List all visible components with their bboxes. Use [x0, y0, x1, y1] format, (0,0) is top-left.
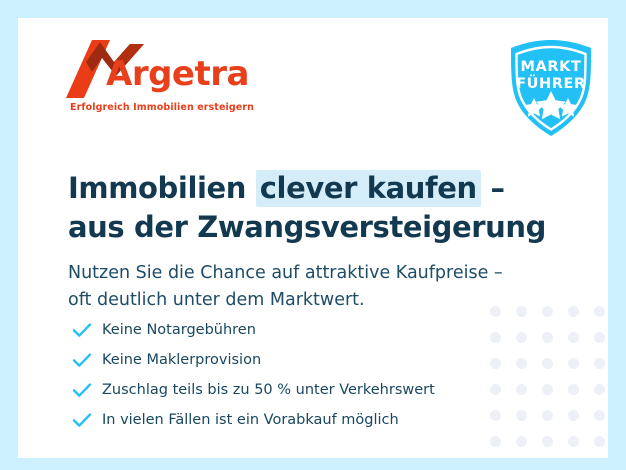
logo-wordmark: Argetra [106, 57, 249, 91]
promo-banner: Argetra Erfolgreich Immobilien ersteiger… [0, 0, 626, 470]
banner-card: Argetra Erfolgreich Immobilien ersteiger… [18, 18, 608, 458]
subheading-line-1: Nutzen Sie die Chance auf attraktive Kau… [68, 260, 558, 287]
page-title: Immobilien clever kaufen – aus der Zwang… [68, 169, 538, 247]
headline-text-post: – [481, 171, 505, 205]
headline-text-pre: Immobilien [68, 171, 256, 205]
subheading-line-2: oft deutlich unter dem Marktwert. [68, 287, 558, 314]
list-item-label: Keine Notargebühren [102, 320, 256, 340]
check-icon [70, 348, 94, 372]
headline-line-2: aus der Zwangsversteigerung [68, 208, 538, 247]
benefits-checklist: Keine Notargebühren Keine Maklerprovisio… [70, 315, 530, 435]
list-item-label: Keine Maklerprovision [102, 350, 261, 370]
badge-label-line1: MARKT [499, 59, 603, 76]
list-item: Zuschlag teils bis zu 50 % unter Verkehr… [70, 375, 530, 405]
logo-tagline: Erfolgreich Immobilien ersteigern [70, 102, 254, 113]
list-item-label: Zuschlag teils bis zu 50 % unter Verkehr… [102, 380, 435, 400]
headline-line-1: Immobilien clever kaufen – [68, 169, 538, 208]
badge-label: MARKT FÜHRER [499, 59, 603, 93]
badge-label-line2: FÜHRER [499, 76, 603, 93]
list-item: In vielen Fällen ist ein Vorabkauf mögli… [70, 405, 530, 435]
headline-highlight: clever kaufen [256, 170, 481, 207]
list-item: Keine Notargebühren [70, 315, 530, 345]
check-icon [70, 408, 94, 432]
check-icon [70, 318, 94, 342]
argetra-logo[interactable]: Argetra Erfolgreich Immobilien ersteiger… [58, 40, 258, 118]
check-icon [70, 378, 94, 402]
list-item-label: In vielen Fällen ist ein Vorabkauf mögli… [102, 410, 399, 430]
list-item: Keine Maklerprovision [70, 345, 530, 375]
market-leader-badge: MARKT FÜHRER [499, 36, 603, 140]
subheading: Nutzen Sie die Chance auf attraktive Kau… [68, 260, 558, 314]
